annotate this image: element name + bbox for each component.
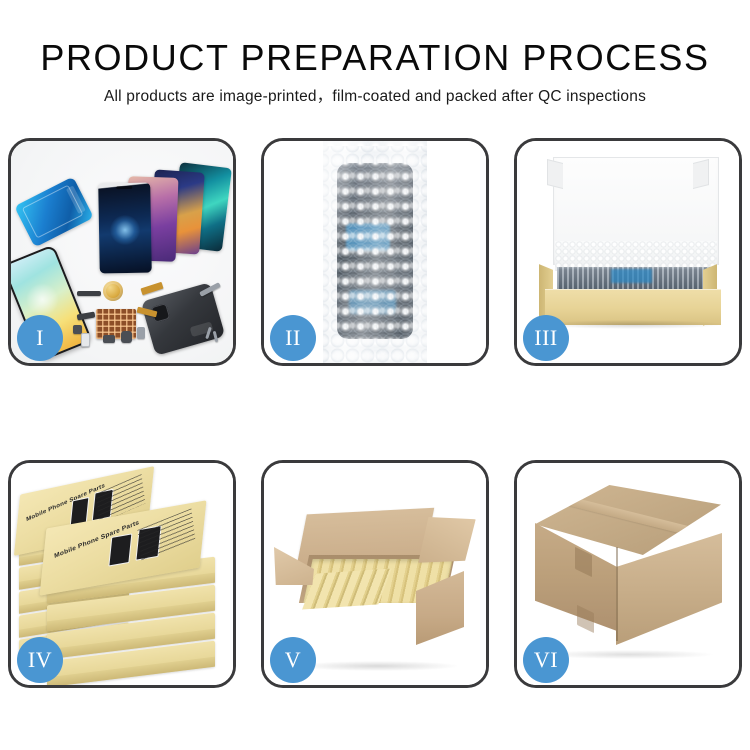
process-step-grid: I II [8, 138, 742, 688]
header: PRODUCT PREPARATION PROCESS All products… [0, 0, 750, 108]
box-lid-tab-left [547, 159, 563, 189]
step-badge-1: I [17, 315, 63, 361]
carton-corner-seam [616, 547, 618, 641]
part-bracket [137, 327, 145, 339]
carton-drop-shadow [298, 661, 458, 671]
process-step-2[interactable]: II [261, 138, 489, 366]
box-spec-lines-front [138, 508, 196, 562]
part-sim-tray [81, 333, 90, 347]
step-badge-5: V [270, 637, 316, 683]
process-step-6[interactable]: VI [514, 460, 742, 688]
carton-front-wall [298, 591, 416, 665]
step-badge-2: II [270, 315, 316, 361]
page-subtitle: All products are image-printed，film-coat… [0, 86, 750, 108]
process-step-5[interactable]: V [261, 460, 489, 688]
box-lid-tab-right [693, 159, 709, 189]
page-title: PRODUCT PREPARATION PROCESS [0, 36, 750, 80]
process-step-1[interactable]: I [8, 138, 236, 366]
step-badge-6: VI [523, 637, 569, 683]
box-drop-shadow [543, 320, 723, 329]
plastic-sheen [323, 141, 427, 363]
process-step-4[interactable]: Mobile Phone Spare Parts Mobile Phone Sp… [8, 460, 236, 688]
part-camera-module [121, 331, 132, 343]
step-badge-4: IV [17, 637, 63, 683]
phone-notch-icon [116, 186, 132, 189]
box-phone-graphic-front-1 [109, 533, 133, 566]
copper-coil-part [103, 281, 123, 301]
product-preparation-infographic: PRODUCT PREPARATION PROCESS All products… [0, 0, 750, 750]
step-badge-3: III [523, 315, 569, 361]
process-step-3[interactable]: III [514, 138, 742, 366]
part-speaker [77, 291, 101, 296]
part-button [103, 335, 115, 343]
phone-screen-blue [98, 183, 152, 274]
